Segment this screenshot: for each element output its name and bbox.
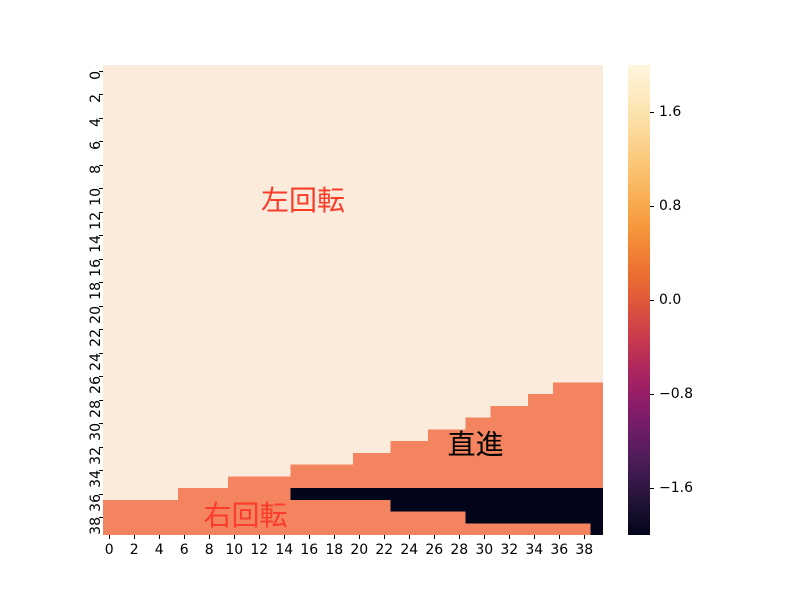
heatmap-cell-row [391, 500, 604, 512]
x-tick-mark [209, 535, 210, 539]
x-tick-mark [334, 535, 335, 539]
heatmap-cell-row [291, 488, 604, 500]
figure-canvas: 左回転直進右回転 0246810121416182022242628303234… [0, 0, 800, 600]
y-tick-label: 14 [89, 235, 103, 261]
x-tick-label: 38 [564, 541, 604, 559]
heatmap-cell-row [103, 241, 603, 253]
heatmap-cell-row [491, 406, 604, 418]
heatmap-cell-row [103, 230, 603, 242]
y-tick-label: 8 [89, 165, 103, 191]
x-tick-mark [134, 535, 135, 539]
heatmap-cell-row [103, 218, 603, 230]
heatmap-cell-row [103, 100, 603, 112]
y-tick-label: 16 [89, 259, 103, 285]
y-tick-label: 24 [89, 353, 103, 379]
heatmap-cell-row [103, 324, 603, 336]
heatmap-cell-row [103, 488, 178, 500]
annotation-right-turn: 右回転 [203, 494, 287, 534]
heatmap-cell-row [466, 512, 604, 524]
heatmap-cell-row [103, 359, 603, 371]
heatmap-cell-row [103, 124, 603, 136]
y-tick-label: 6 [89, 141, 103, 167]
heatmap-cell-row [103, 265, 603, 277]
heatmap-cell-row [103, 206, 603, 218]
heatmap-cell-row [591, 523, 604, 535]
x-tick-mark [234, 535, 235, 539]
x-tick-mark [509, 535, 510, 539]
heatmap-cell-row [103, 347, 603, 359]
heatmap-cell-row [103, 89, 603, 101]
heatmap-cell-row [103, 183, 603, 195]
y-tick-label: 34 [89, 470, 103, 496]
annotation-left-turn: 左回転 [261, 179, 345, 219]
heatmap-cell-row [103, 159, 603, 171]
annotation-go-straight: 直進 [447, 423, 503, 463]
colorbar-tick-mark [650, 394, 654, 395]
colorbar[interactable] [628, 65, 650, 535]
heatmap-cell-row [103, 277, 603, 289]
x-tick-mark [109, 535, 110, 539]
heatmap-cells [103, 65, 603, 535]
heatmap-cell-row [103, 171, 603, 183]
colorbar-tick-mark [650, 112, 654, 113]
colorbar-tick-mark [650, 488, 654, 489]
x-tick-mark [384, 535, 385, 539]
heatmap-cell-row [103, 523, 591, 535]
x-tick-mark [484, 535, 485, 539]
heatmap-cell-row [103, 371, 603, 383]
x-tick-mark [434, 535, 435, 539]
x-tick-mark [159, 535, 160, 539]
x-tick-mark [284, 535, 285, 539]
heatmap-cell-row [103, 288, 603, 300]
x-tick-mark [184, 535, 185, 539]
y-tick-label: 26 [89, 376, 103, 402]
heatmap-cell-row [228, 476, 603, 488]
x-tick-mark [359, 535, 360, 539]
y-tick-label: 12 [89, 212, 103, 238]
heatmap-cell-row [103, 429, 428, 441]
colorbar-tick-mark [650, 206, 654, 207]
heatmap-cell-row [103, 65, 603, 77]
y-tick-label: 4 [89, 118, 103, 144]
heatmap-cell-row [103, 418, 466, 430]
y-tick-label: 10 [89, 188, 103, 214]
x-tick-mark [409, 535, 410, 539]
heatmap-cell-row [103, 453, 353, 465]
y-tick-label: 18 [89, 282, 103, 308]
colorbar-tick-label: 0.0 [659, 293, 681, 307]
heatmap-cell-row [553, 382, 603, 394]
y-tick-label: 30 [89, 423, 103, 449]
heatmap-cell-row [291, 465, 604, 477]
heatmap-cell-row [103, 300, 603, 312]
heatmap-cell-row [528, 394, 603, 406]
x-tick-mark [459, 535, 460, 539]
heatmap-cell-row [103, 406, 491, 418]
y-tick-label: 22 [89, 329, 103, 355]
y-tick-label: 2 [89, 94, 103, 120]
y-tick-label: 20 [89, 306, 103, 332]
heatmap-cell-row [103, 465, 291, 477]
heatmap-cell-row [103, 335, 603, 347]
y-tick-label: 36 [89, 494, 103, 520]
heatmap-cell-row [103, 382, 553, 394]
x-tick-mark [309, 535, 310, 539]
x-tick-mark [584, 535, 585, 539]
colorbar-tick-label: 1.6 [659, 105, 681, 119]
colorbar-gradient [628, 65, 650, 535]
x-tick-mark [534, 535, 535, 539]
heatmap-cell-row [103, 112, 603, 124]
heatmap-cell-row [103, 147, 603, 159]
heatmap-cell-row [103, 441, 391, 453]
colorbar-tick-mark [650, 300, 654, 301]
y-tick-label: 32 [89, 447, 103, 473]
heatmap-cell-row [103, 136, 603, 148]
heatmap-plot-area[interactable]: 左回転直進右回転 [103, 65, 603, 535]
y-tick-label: 28 [89, 400, 103, 426]
heatmap-cell-row [103, 476, 228, 488]
colorbar-tick-label: −0.8 [659, 387, 693, 401]
heatmap-cell-row [103, 394, 528, 406]
colorbar-tick-label: 0.8 [659, 199, 681, 213]
x-tick-mark [559, 535, 560, 539]
heatmap-cell-row [103, 312, 603, 324]
y-tick-label: 0 [89, 71, 103, 97]
colorbar-tick-label: −1.6 [659, 481, 693, 495]
y-tick-label: 38 [89, 517, 103, 543]
heatmap-cell-row [103, 77, 603, 89]
heatmap-cell-row [103, 194, 603, 206]
heatmap-cell-row [103, 253, 603, 265]
x-tick-mark [259, 535, 260, 539]
